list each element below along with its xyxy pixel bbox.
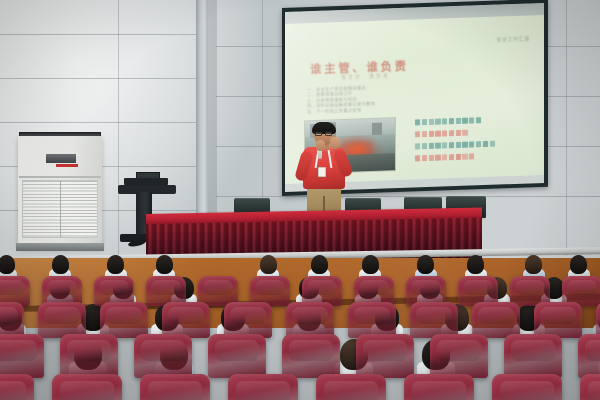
podium-top bbox=[124, 178, 168, 185]
audience-seat[interactable] bbox=[228, 374, 298, 400]
audience-seat[interactable] bbox=[492, 374, 562, 400]
audience-seat[interactable] bbox=[596, 302, 600, 338]
air-conditioner-display bbox=[46, 154, 76, 163]
auditorium-presentation-photo: 安全工作汇报 谁主管、谁负责 谁主办 谁负责 一、安全生产责任制落实情况 二、隐… bbox=[0, 0, 600, 400]
wall-seam bbox=[566, 0, 567, 256]
audience-member-head bbox=[467, 255, 484, 274]
audience-seat[interactable] bbox=[140, 374, 210, 400]
air-conditioner-seam bbox=[19, 176, 101, 178]
audience-seat[interactable] bbox=[286, 302, 334, 338]
audience-member-head bbox=[52, 255, 69, 274]
presenter-id-badge bbox=[318, 167, 326, 177]
audience-seat[interactable] bbox=[316, 374, 386, 400]
audience-seat[interactable] bbox=[0, 334, 44, 378]
audience-seat[interactable] bbox=[38, 302, 86, 338]
audience-seat[interactable] bbox=[472, 302, 520, 338]
audience-seat[interactable] bbox=[52, 374, 122, 400]
audience-seat[interactable] bbox=[282, 334, 340, 378]
audience-seat[interactable] bbox=[504, 334, 562, 378]
audience-seat[interactable] bbox=[404, 374, 474, 400]
audience-seat[interactable] bbox=[534, 302, 582, 338]
audience-seat[interactable] bbox=[208, 334, 266, 378]
audience-seat[interactable] bbox=[356, 334, 414, 378]
audience-member-head bbox=[260, 255, 277, 274]
audience bbox=[0, 262, 600, 400]
audience-member-head bbox=[311, 255, 328, 274]
audience-seat[interactable] bbox=[162, 302, 210, 338]
audience-seat[interactable] bbox=[134, 334, 192, 378]
wall-seam bbox=[0, 34, 200, 35]
audience-member-head bbox=[525, 255, 542, 274]
wall-seam bbox=[0, 78, 200, 79]
audience-member-head bbox=[570, 255, 587, 274]
wall-seam bbox=[118, 0, 119, 256]
audience-seat[interactable] bbox=[100, 302, 148, 338]
eyeglasses-icon bbox=[315, 132, 322, 136]
audience-seat[interactable] bbox=[410, 302, 458, 338]
air-conditioner-base bbox=[16, 243, 104, 251]
audience-member-head bbox=[107, 255, 124, 274]
presenter-right-hand bbox=[330, 137, 340, 149]
audience-member-head bbox=[417, 255, 434, 274]
audience-seat[interactable] bbox=[0, 374, 34, 400]
audience-seat[interactable] bbox=[580, 374, 600, 400]
air-conditioner-vent-divider bbox=[60, 181, 61, 237]
audience-seat[interactable] bbox=[430, 334, 488, 378]
audience-member-head bbox=[0, 255, 15, 274]
audience-seat[interactable] bbox=[60, 334, 118, 378]
presenter bbox=[298, 124, 350, 222]
presenter-left-hand bbox=[316, 140, 325, 151]
audience-member-head bbox=[362, 255, 379, 274]
audience-seat[interactable] bbox=[578, 334, 600, 378]
audience-seat[interactable] bbox=[348, 302, 396, 338]
audience-seat[interactable] bbox=[224, 302, 272, 338]
air-conditioner-logo bbox=[56, 164, 78, 167]
eyeglasses-icon bbox=[325, 132, 332, 136]
audience-member-head bbox=[156, 255, 173, 274]
wall-seam bbox=[0, 122, 200, 123]
audience-seat[interactable] bbox=[0, 302, 24, 338]
